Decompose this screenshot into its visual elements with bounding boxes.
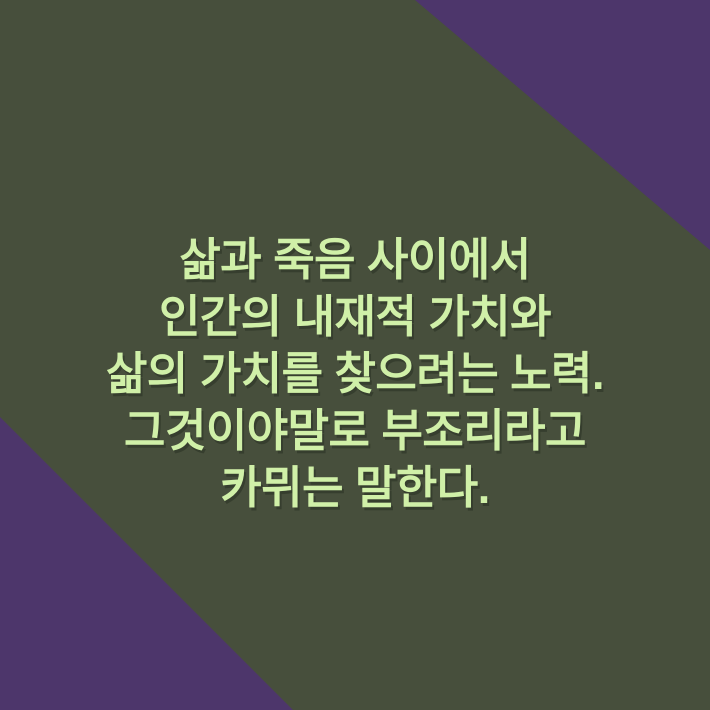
quote-text-block: 삶과 죽음 사이에서 인간의 내재적 가치와 삶의 가치를 찾으려는 노력. 그… (0, 0, 710, 710)
quote-line-3: 삶의 가치를 찾으려는 노력. (0, 345, 710, 402)
quote-line-4: 그것이야말로 부조리라고 (0, 402, 710, 459)
quote-card: 삶과 죽음 사이에서 인간의 내재적 가치와 삶의 가치를 찾으려는 노력. 그… (0, 0, 710, 710)
quote-line-5: 카뮈는 말한다. (0, 459, 710, 516)
quote-line-2: 인간의 내재적 가치와 (0, 288, 710, 345)
quote-line-1: 삶과 죽음 사이에서 (0, 231, 710, 288)
